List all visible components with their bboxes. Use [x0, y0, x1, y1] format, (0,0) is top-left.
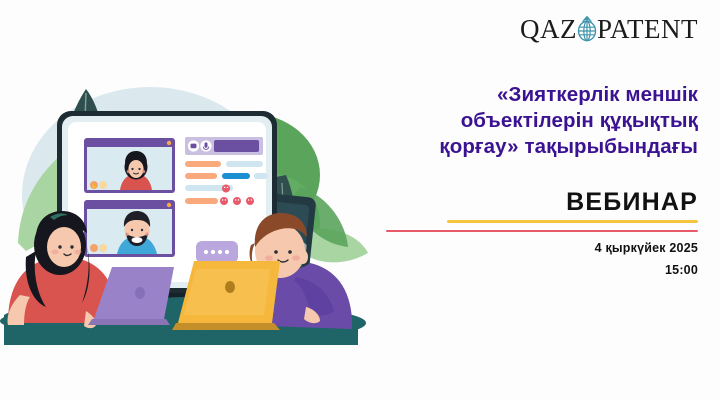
video-conference-illustration: ✋	[0, 55, 372, 385]
divider-pink	[386, 230, 698, 232]
logo-text-patent: PATENT	[597, 16, 698, 43]
headline-line-3: қорғау» тақырыбындағы	[330, 134, 698, 160]
event-type-label: ВЕБИНАР	[330, 188, 698, 217]
webinar-poster: QAZ PATENT «Зияткерлік меншік объектілер…	[0, 0, 720, 400]
headline-line-1: «Зияткерлік меншік	[330, 82, 698, 108]
page-title: «Зияткерлік меншік объектілерін құқықтық…	[330, 82, 698, 160]
video-tile-man	[84, 200, 175, 257]
video-tile-woman: ✋	[84, 138, 175, 193]
headline-line-2: объектілерін құқықтық	[330, 108, 698, 134]
logo-text-qaz: QAZ	[520, 16, 577, 43]
svg-text:✋: ✋	[92, 183, 98, 190]
qazpatent-logo: QAZ PATENT	[520, 14, 698, 44]
divider-yellow	[447, 220, 698, 223]
event-time: 15:00	[330, 263, 698, 277]
event-date: 4 қыркүйек 2025	[330, 241, 698, 255]
globe-sphere-icon	[574, 14, 600, 44]
reaction-row	[220, 197, 254, 205]
